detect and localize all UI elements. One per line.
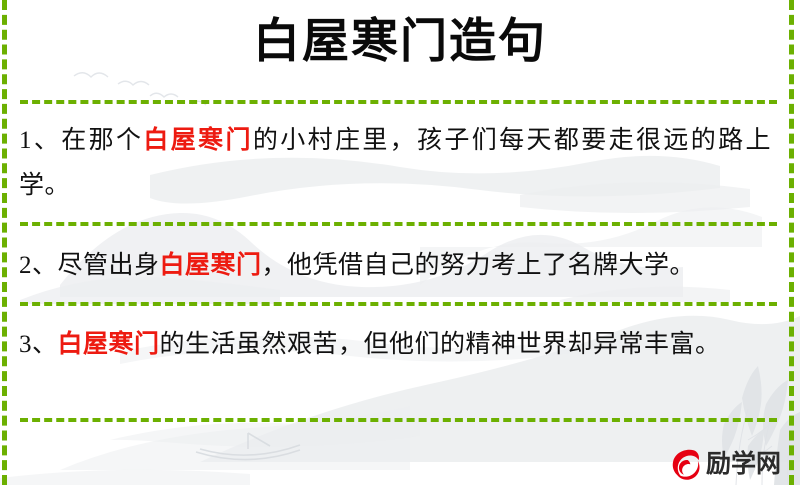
keyword-highlight: 白屋寒门 [160,252,262,279]
sentence-number: 3、 [19,331,58,358]
keyword-highlight: 白屋寒门 [143,127,252,154]
site-logo-text: 励学网 [706,452,781,477]
frame-border-left [2,0,7,485]
sentence-text-after: 的生活虽然艰苦，但他们的精神世界却异常丰富。 [160,331,721,358]
keyword-highlight: 白屋寒门 [58,331,160,358]
sentence-item: 1、在那个白屋寒门的小村庄里，孩子们每天都要走很远的路上学。 [19,118,771,208]
sentence-number: 2、 [19,252,58,279]
separator-after-sentence-3 [20,418,777,422]
site-logo[interactable]: 励学网 [668,447,781,481]
sentence-item: 2、尽管出身白屋寒门，他凭借自己的努力考上了名牌大学。 [19,243,771,288]
sentence-text-after: ，他凭借自己的努力考上了名牌大学。 [262,252,696,279]
page-root: 白屋寒门造句 1、在那个白屋寒门的小村庄里，孩子们每天都要走很远的路上学。 2、… [0,0,800,485]
sentence-text-before: 尽管出身 [58,252,160,279]
sentence-item: 3、白屋寒门的生活虽然艰苦，但他们的精神世界却异常丰富。 [19,322,771,367]
red-swirl-flame-icon [668,447,702,481]
page-title: 白屋寒门造句 [0,14,800,70]
sentence-number: 1、 [19,127,61,154]
separator-after-sentence-2 [20,302,777,306]
separator-after-sentence-1 [20,222,777,226]
separator-below-title [20,100,777,104]
sentence-text-before: 在那个 [61,127,143,154]
frame-border-right [789,0,794,485]
